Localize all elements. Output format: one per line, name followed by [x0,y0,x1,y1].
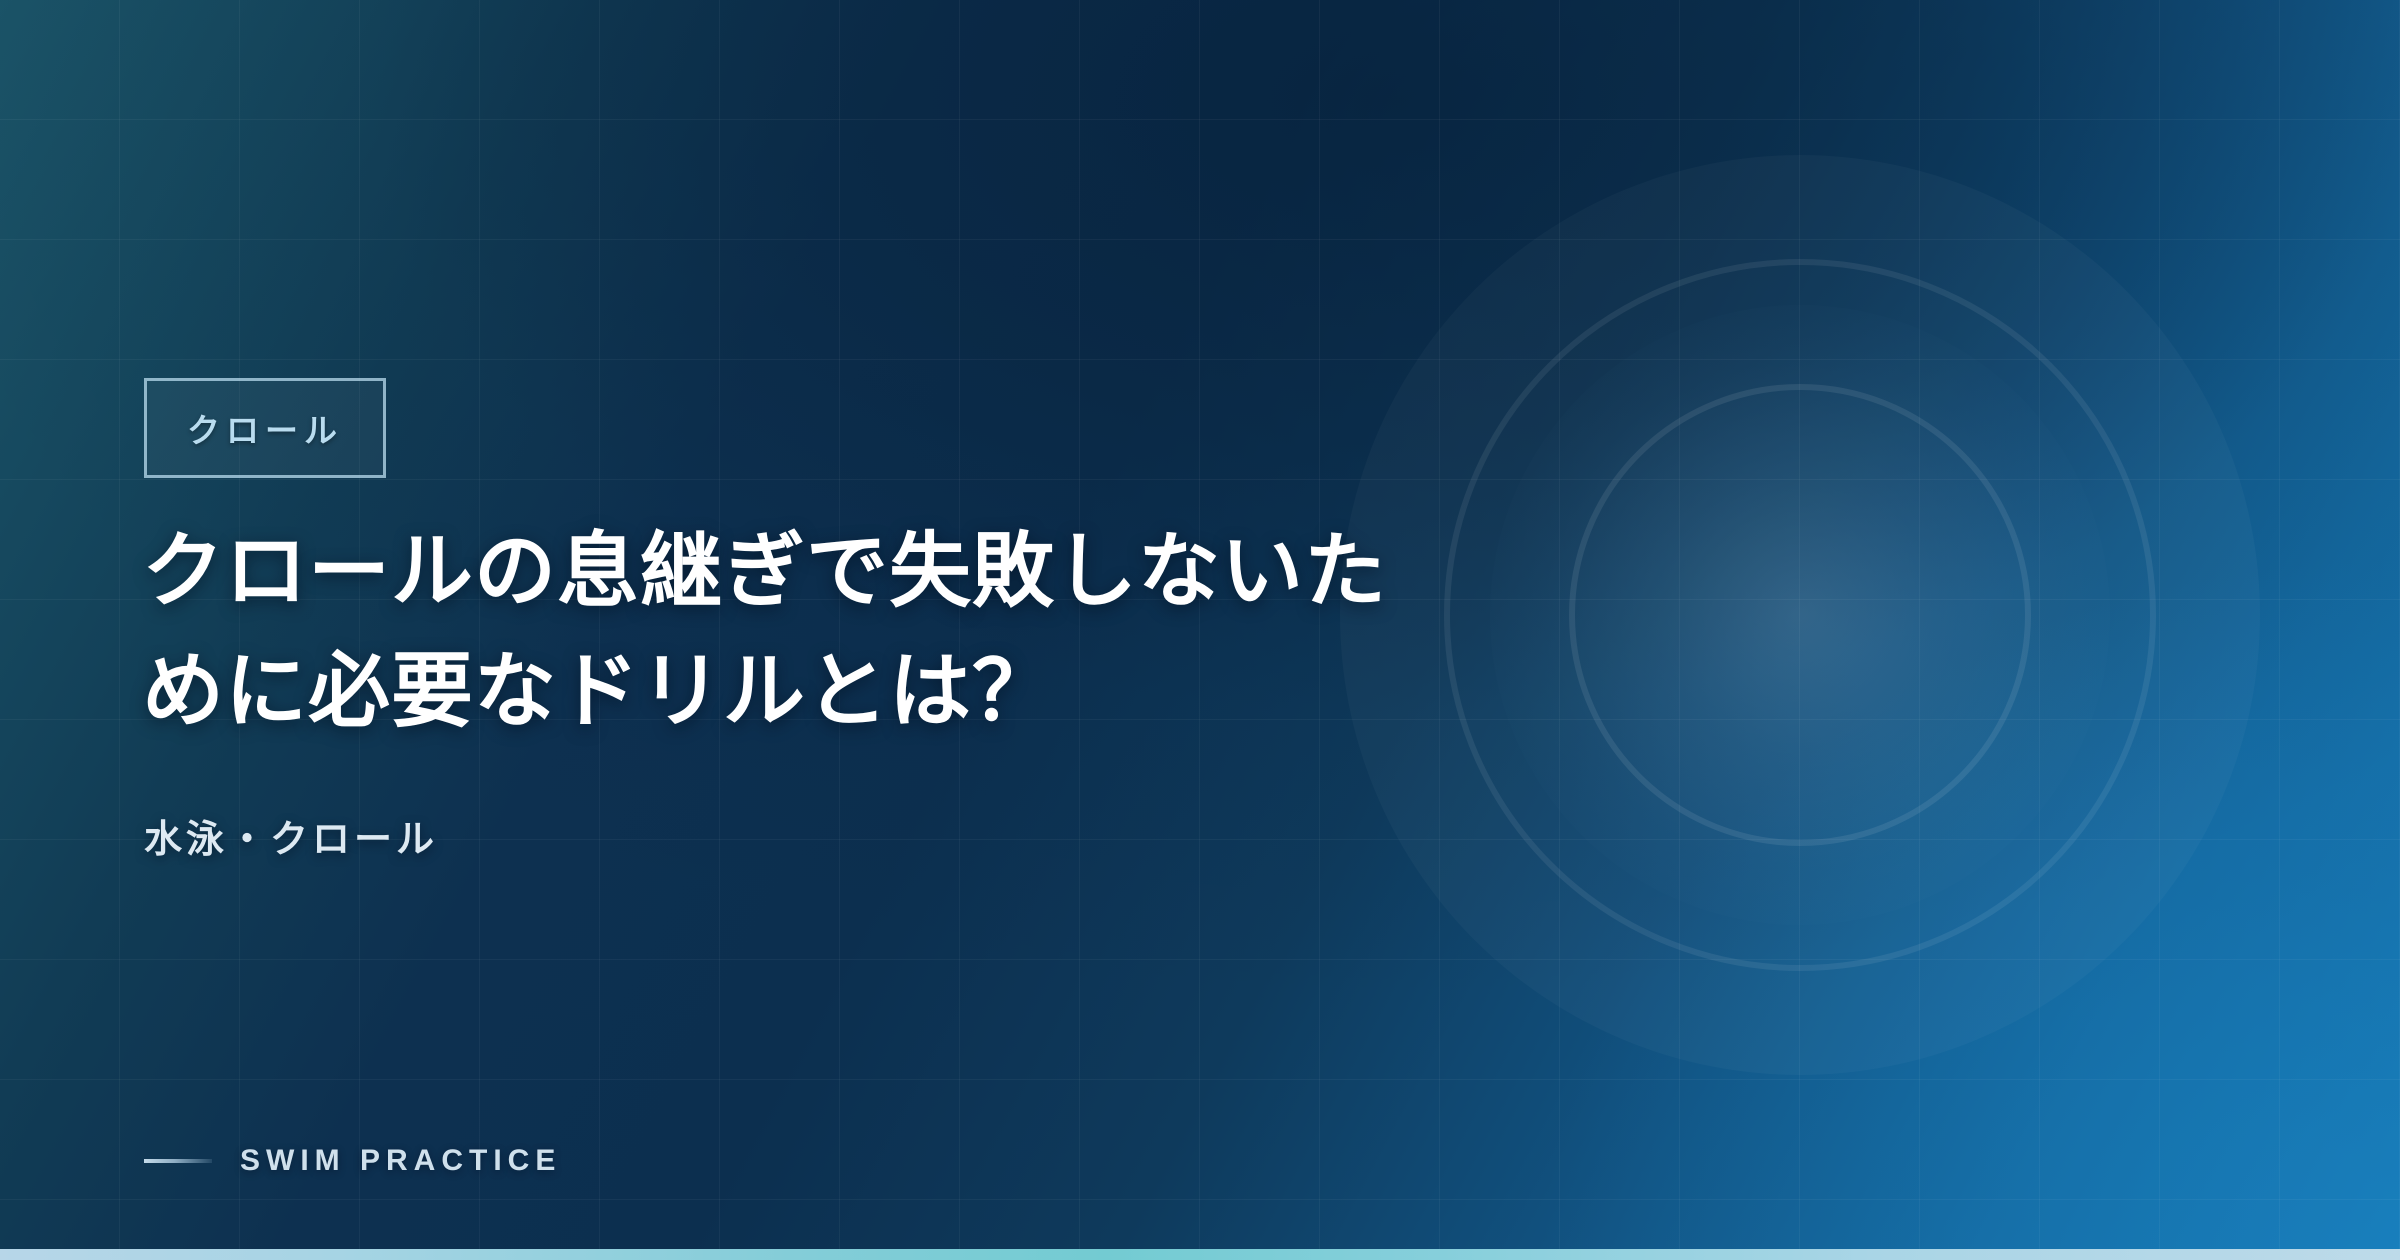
title-line-1: クロールの息継ぎで失敗しないた [142,526,1387,617]
subtitle: 水泳・クロール [144,808,438,863]
page-title: クロールの息継ぎで失敗しないた めに必要なドリルとは？ [142,512,1562,751]
bottom-accent-bar [0,1249,2400,1260]
title-slide: クロール クロールの息継ぎで失敗しないた めに必要なドリルとは？ 水泳・クロール… [0,0,2400,1260]
footer: SWIM PRACTICE [144,1144,561,1178]
slide-content: クロール クロールの息継ぎで失敗しないた めに必要なドリルとは？ 水泳・クロール… [0,0,2400,1260]
category-badge: クロール [144,378,386,478]
title-line-2: めに必要なドリルとは？ [142,646,1055,737]
brand-label: SWIM PRACTICE [240,1144,561,1178]
dash-rule-icon [144,1159,212,1163]
